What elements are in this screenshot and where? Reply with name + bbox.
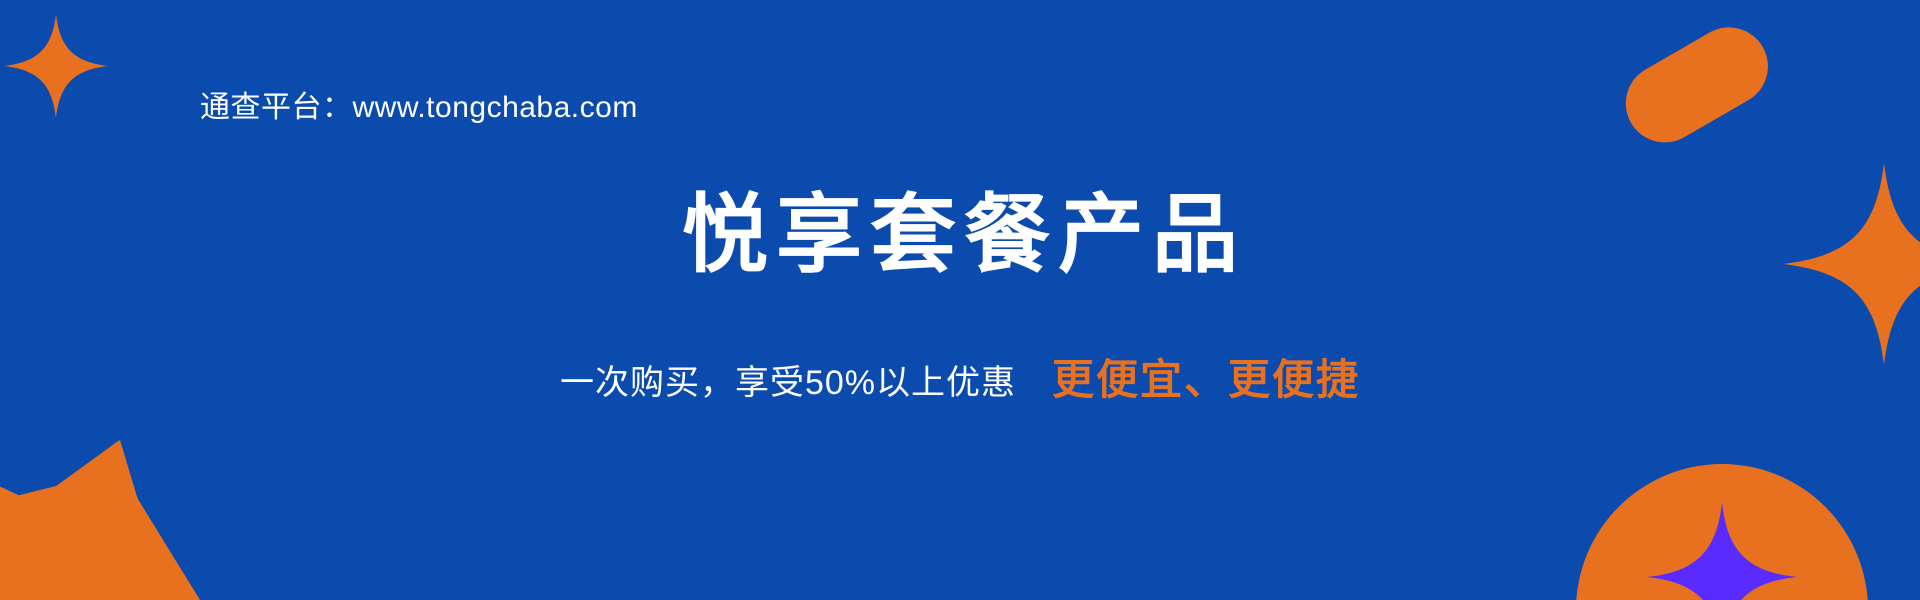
platform-label: 通查平台： bbox=[200, 91, 353, 124]
banner-content: 通查平台：www.tongchaba.com 悦享套餐产品 一次购买，享受50%… bbox=[0, 0, 1920, 600]
platform-url: www.tongchaba.com bbox=[353, 91, 638, 124]
page-title: 悦享套餐产品 bbox=[0, 190, 1920, 280]
platform-line: 通查平台：www.tongchaba.com bbox=[200, 88, 638, 127]
promo-banner: 通查平台：www.tongchaba.com 悦享套餐产品 一次购买，享受50%… bbox=[0, 0, 1920, 600]
subtitle-highlight: 更便宜、更便捷 bbox=[1052, 355, 1360, 405]
subtitle-row: 一次购买，享受50%以上优惠 更便宜、更便捷 bbox=[0, 355, 1920, 405]
subtitle-text: 一次购买，享受50%以上优惠 bbox=[560, 363, 1016, 404]
